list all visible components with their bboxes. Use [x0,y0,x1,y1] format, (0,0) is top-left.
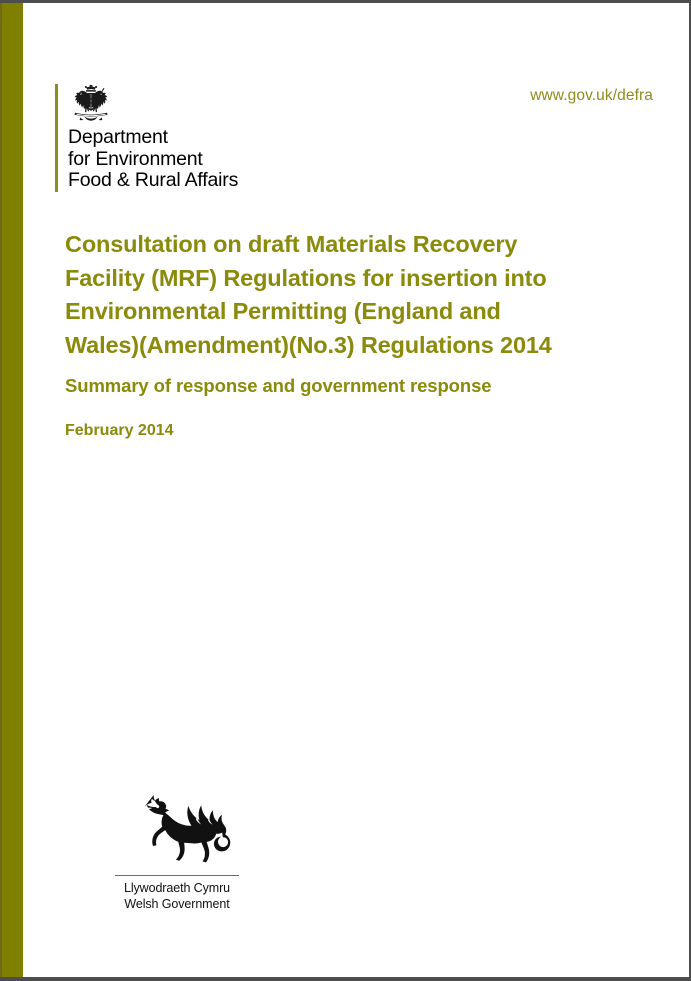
defra-website-url[interactable]: www.gov.uk/defra [530,87,653,105]
defra-wordmark: Department for Environment Food & Rural … [68,127,238,192]
page-title: Consultation on draft Materials Recovery… [65,228,645,362]
document-cover-page: Department for Environment Food & Rural … [0,0,691,981]
welsh-name-cymraeg: Llywodraeth Cymru [113,881,241,897]
title-block: Consultation on draft Materials Recovery… [65,228,645,441]
page-title-line-3: Environmental Permitting (England and [65,295,645,329]
welsh-logo-divider [115,875,239,876]
page-title-line-4: Wales)(Amendment)(No.3) Regulations 2014 [65,329,645,363]
welsh-government-wordmark: Llywodraeth Cymru Welsh Government [113,881,241,912]
welsh-government-logo: Llywodraeth Cymru Welsh Government [113,791,241,912]
page-title-line-2: Facility (MRF) Regulations for insertion… [65,262,645,296]
defra-wordmark-line-3: Food & Rural Affairs [68,170,238,192]
page-subtitle: Summary of response and government respo… [65,374,645,398]
publication-date: February 2014 [65,421,645,441]
royal-coat-of-arms-icon [68,84,114,124]
defra-wordmark-line-1: Department [68,127,238,149]
welsh-name-english: Welsh Government [113,897,241,913]
defra-wordmark-line-2: for Environment [68,149,238,171]
defra-accent-rule [55,84,58,192]
page-accent-spine [2,3,23,977]
defra-logo: Department for Environment Food & Rural … [68,84,238,192]
page-title-line-1: Consultation on draft Materials Recovery [65,228,645,262]
welsh-dragon-icon [127,791,233,869]
